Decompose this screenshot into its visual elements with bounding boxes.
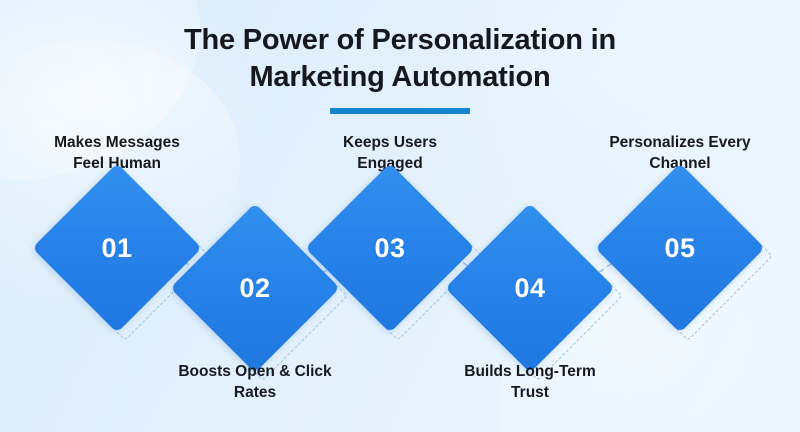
- step-node-2[interactable]: 02: [195, 228, 315, 348]
- infographic-canvas: The Power of Personalization in Marketin…: [0, 0, 800, 432]
- page-title: The Power of Personalization in Marketin…: [0, 22, 800, 114]
- step-number-4: 04: [470, 228, 590, 348]
- title-underline-accent: [330, 108, 470, 114]
- step-node-5[interactable]: 05: [620, 188, 740, 308]
- title-line-2: Marketing Automation: [0, 59, 800, 96]
- step-number-1: 01: [57, 188, 177, 308]
- step-number-5: 05: [620, 188, 740, 308]
- step-label-2: Boosts Open & Click Rates: [155, 362, 355, 404]
- step-number-2: 02: [195, 228, 315, 348]
- step-node-3[interactable]: 03: [330, 188, 450, 308]
- title-line-1: The Power of Personalization in: [0, 22, 800, 59]
- step-node-1[interactable]: 01: [57, 188, 177, 308]
- step-node-4[interactable]: 04: [470, 228, 590, 348]
- step-number-3: 03: [330, 188, 450, 308]
- step-label-4: Builds Long-Term Trust: [440, 362, 620, 404]
